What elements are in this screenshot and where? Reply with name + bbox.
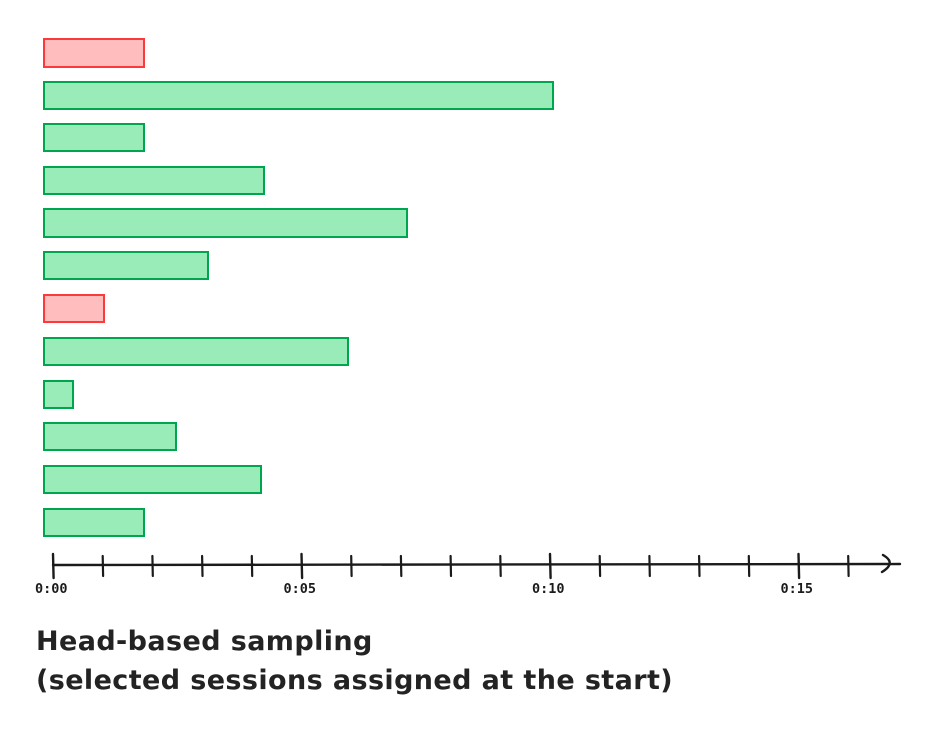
- tick-label-0-10: 0:10: [532, 581, 565, 597]
- bar-9-sampled: [43, 380, 74, 409]
- bar-6-sampled: [43, 251, 209, 280]
- axis-tick-15min: [799, 554, 800, 578]
- caption-line-primary: Head-based sampling: [36, 622, 736, 661]
- bar-5-sampled: [43, 208, 408, 238]
- bar-11-sampled: [43, 465, 262, 494]
- bar-7-dropped: [43, 294, 105, 323]
- bar-12-sampled: [43, 508, 145, 537]
- tick-label-0-00: 0:00: [35, 581, 68, 597]
- tick-label-0-15: 0:15: [781, 581, 814, 597]
- axis-group: [53, 554, 900, 578]
- head-based-sampling-chart: 0:000:050:100:15 Head-based sampling (se…: [0, 0, 944, 740]
- axis-tick-10min: [550, 554, 551, 578]
- bar-1-dropped: [43, 38, 145, 68]
- bar-10-sampled: [43, 422, 177, 451]
- axis-line: [53, 564, 900, 565]
- tick-label-0-05: 0:05: [284, 581, 317, 597]
- bar-8-sampled: [43, 337, 349, 366]
- bar-2-sampled: [43, 81, 554, 110]
- bar-3-sampled: [43, 123, 145, 152]
- chart-caption: Head-based sampling (selected sessions a…: [36, 622, 736, 700]
- axis-arrowhead: [882, 555, 890, 572]
- bar-4-sampled: [43, 166, 265, 195]
- caption-line-secondary: (selected sessions assigned at the start…: [36, 661, 736, 700]
- axis-tick-5min: [302, 554, 303, 578]
- axis-tick-0min: [53, 554, 54, 578]
